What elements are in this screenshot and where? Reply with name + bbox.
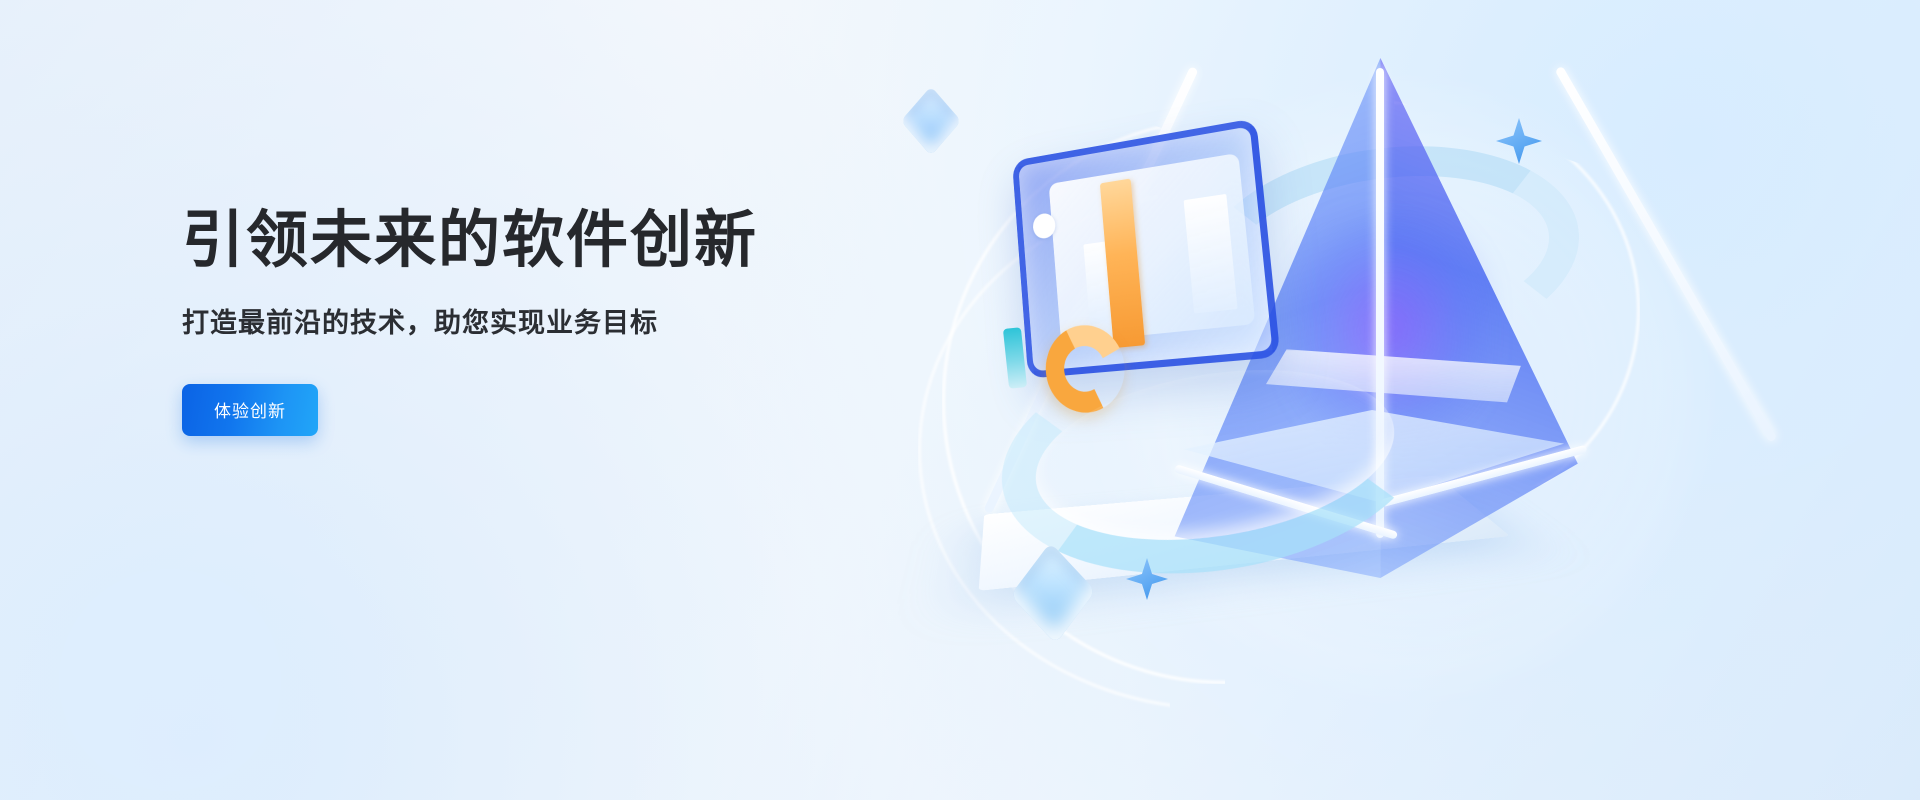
hero-text-column: 引领未来的软件创新 打造最前沿的技术，助您实现业务目标 体验创新 — [182, 204, 942, 436]
page-title: 引领未来的软件创新 — [182, 204, 942, 277]
hero-illustration — [900, 40, 1620, 760]
hero-banner: 引领未来的软件创新 打造最前沿的技术，助您实现业务目标 体验创新 — [0, 0, 1920, 800]
floating-cube-icon — [901, 86, 962, 156]
experience-innovation-button[interactable]: 体验创新 — [182, 384, 318, 436]
ambient-glow — [0, 420, 520, 800]
hero-subtitle: 打造最前沿的技术，助您实现业务目标 — [182, 301, 942, 340]
bar-chart-bar — [1184, 194, 1238, 314]
analytics-card-surface — [1049, 153, 1256, 343]
